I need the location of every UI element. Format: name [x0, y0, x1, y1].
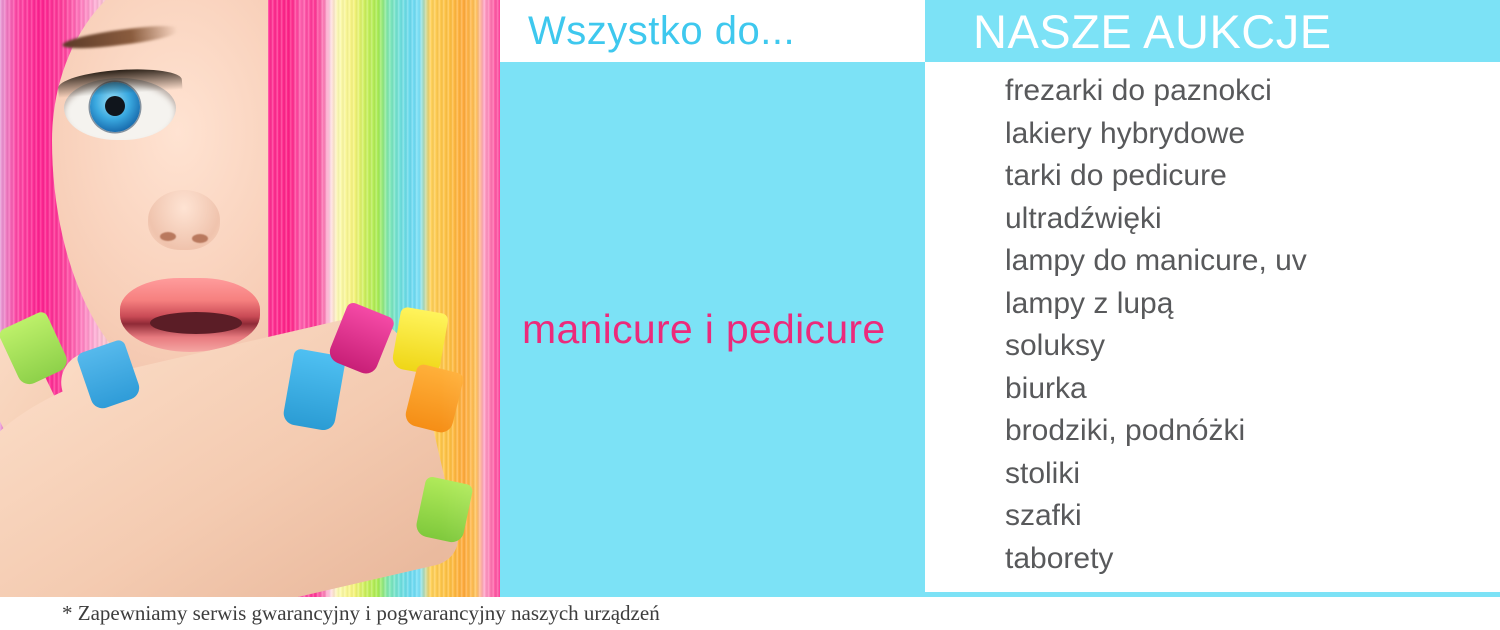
middle-cyan-panel: manicure i pedicure: [500, 62, 925, 597]
warranty-note: * Zapewniamy serwis gwarancyjny i pogwar…: [62, 601, 660, 626]
auction-list-item[interactable]: lampy do manicure, uv: [1005, 240, 1500, 283]
nose: [148, 190, 220, 250]
auction-list-item[interactable]: szafki: [1005, 495, 1500, 538]
middle-headline: manicure i pedicure: [522, 306, 886, 353]
nostril-left: [160, 232, 176, 241]
auctions-header-title: NASZE AUKCJE: [973, 4, 1332, 59]
pupil: [105, 96, 125, 116]
nostril-right: [192, 234, 208, 243]
open-mouth: [150, 312, 242, 334]
auction-list-item[interactable]: lakiery hybrydowe: [1005, 113, 1500, 156]
auction-list-item[interactable]: brodziki, podnóżki: [1005, 410, 1500, 453]
auction-list-item[interactable]: frezarki do paznokci: [1005, 70, 1500, 113]
auctions-header-band: NASZE AUKCJE: [925, 0, 1500, 62]
auctions-list: frezarki do paznokcilakiery hybrydowetar…: [925, 70, 1500, 580]
auction-list-item[interactable]: soluksy: [1005, 325, 1500, 368]
auction-list-item[interactable]: stoliki: [1005, 453, 1500, 496]
auctions-panel: frezarki do paznokcilakiery hybrydowetar…: [925, 62, 1500, 592]
middle-header-text: Wszystko do...: [528, 9, 795, 54]
auction-list-item[interactable]: lampy z lupą: [1005, 283, 1500, 326]
auction-list-item[interactable]: ultradźwięki: [1005, 198, 1500, 241]
middle-header-band: Wszystko do...: [500, 0, 925, 62]
beauty-photo: [0, 0, 500, 597]
footer-band: * Zapewniamy serwis gwarancyjny i pogwar…: [0, 597, 1500, 630]
auction-list-item[interactable]: tarki do pedicure: [1005, 155, 1500, 198]
auction-list-item[interactable]: taborety: [1005, 538, 1500, 581]
auction-list-item[interactable]: biurka: [1005, 368, 1500, 411]
promo-banner: Wszystko do... manicure i pedicure NASZE…: [0, 0, 1500, 630]
